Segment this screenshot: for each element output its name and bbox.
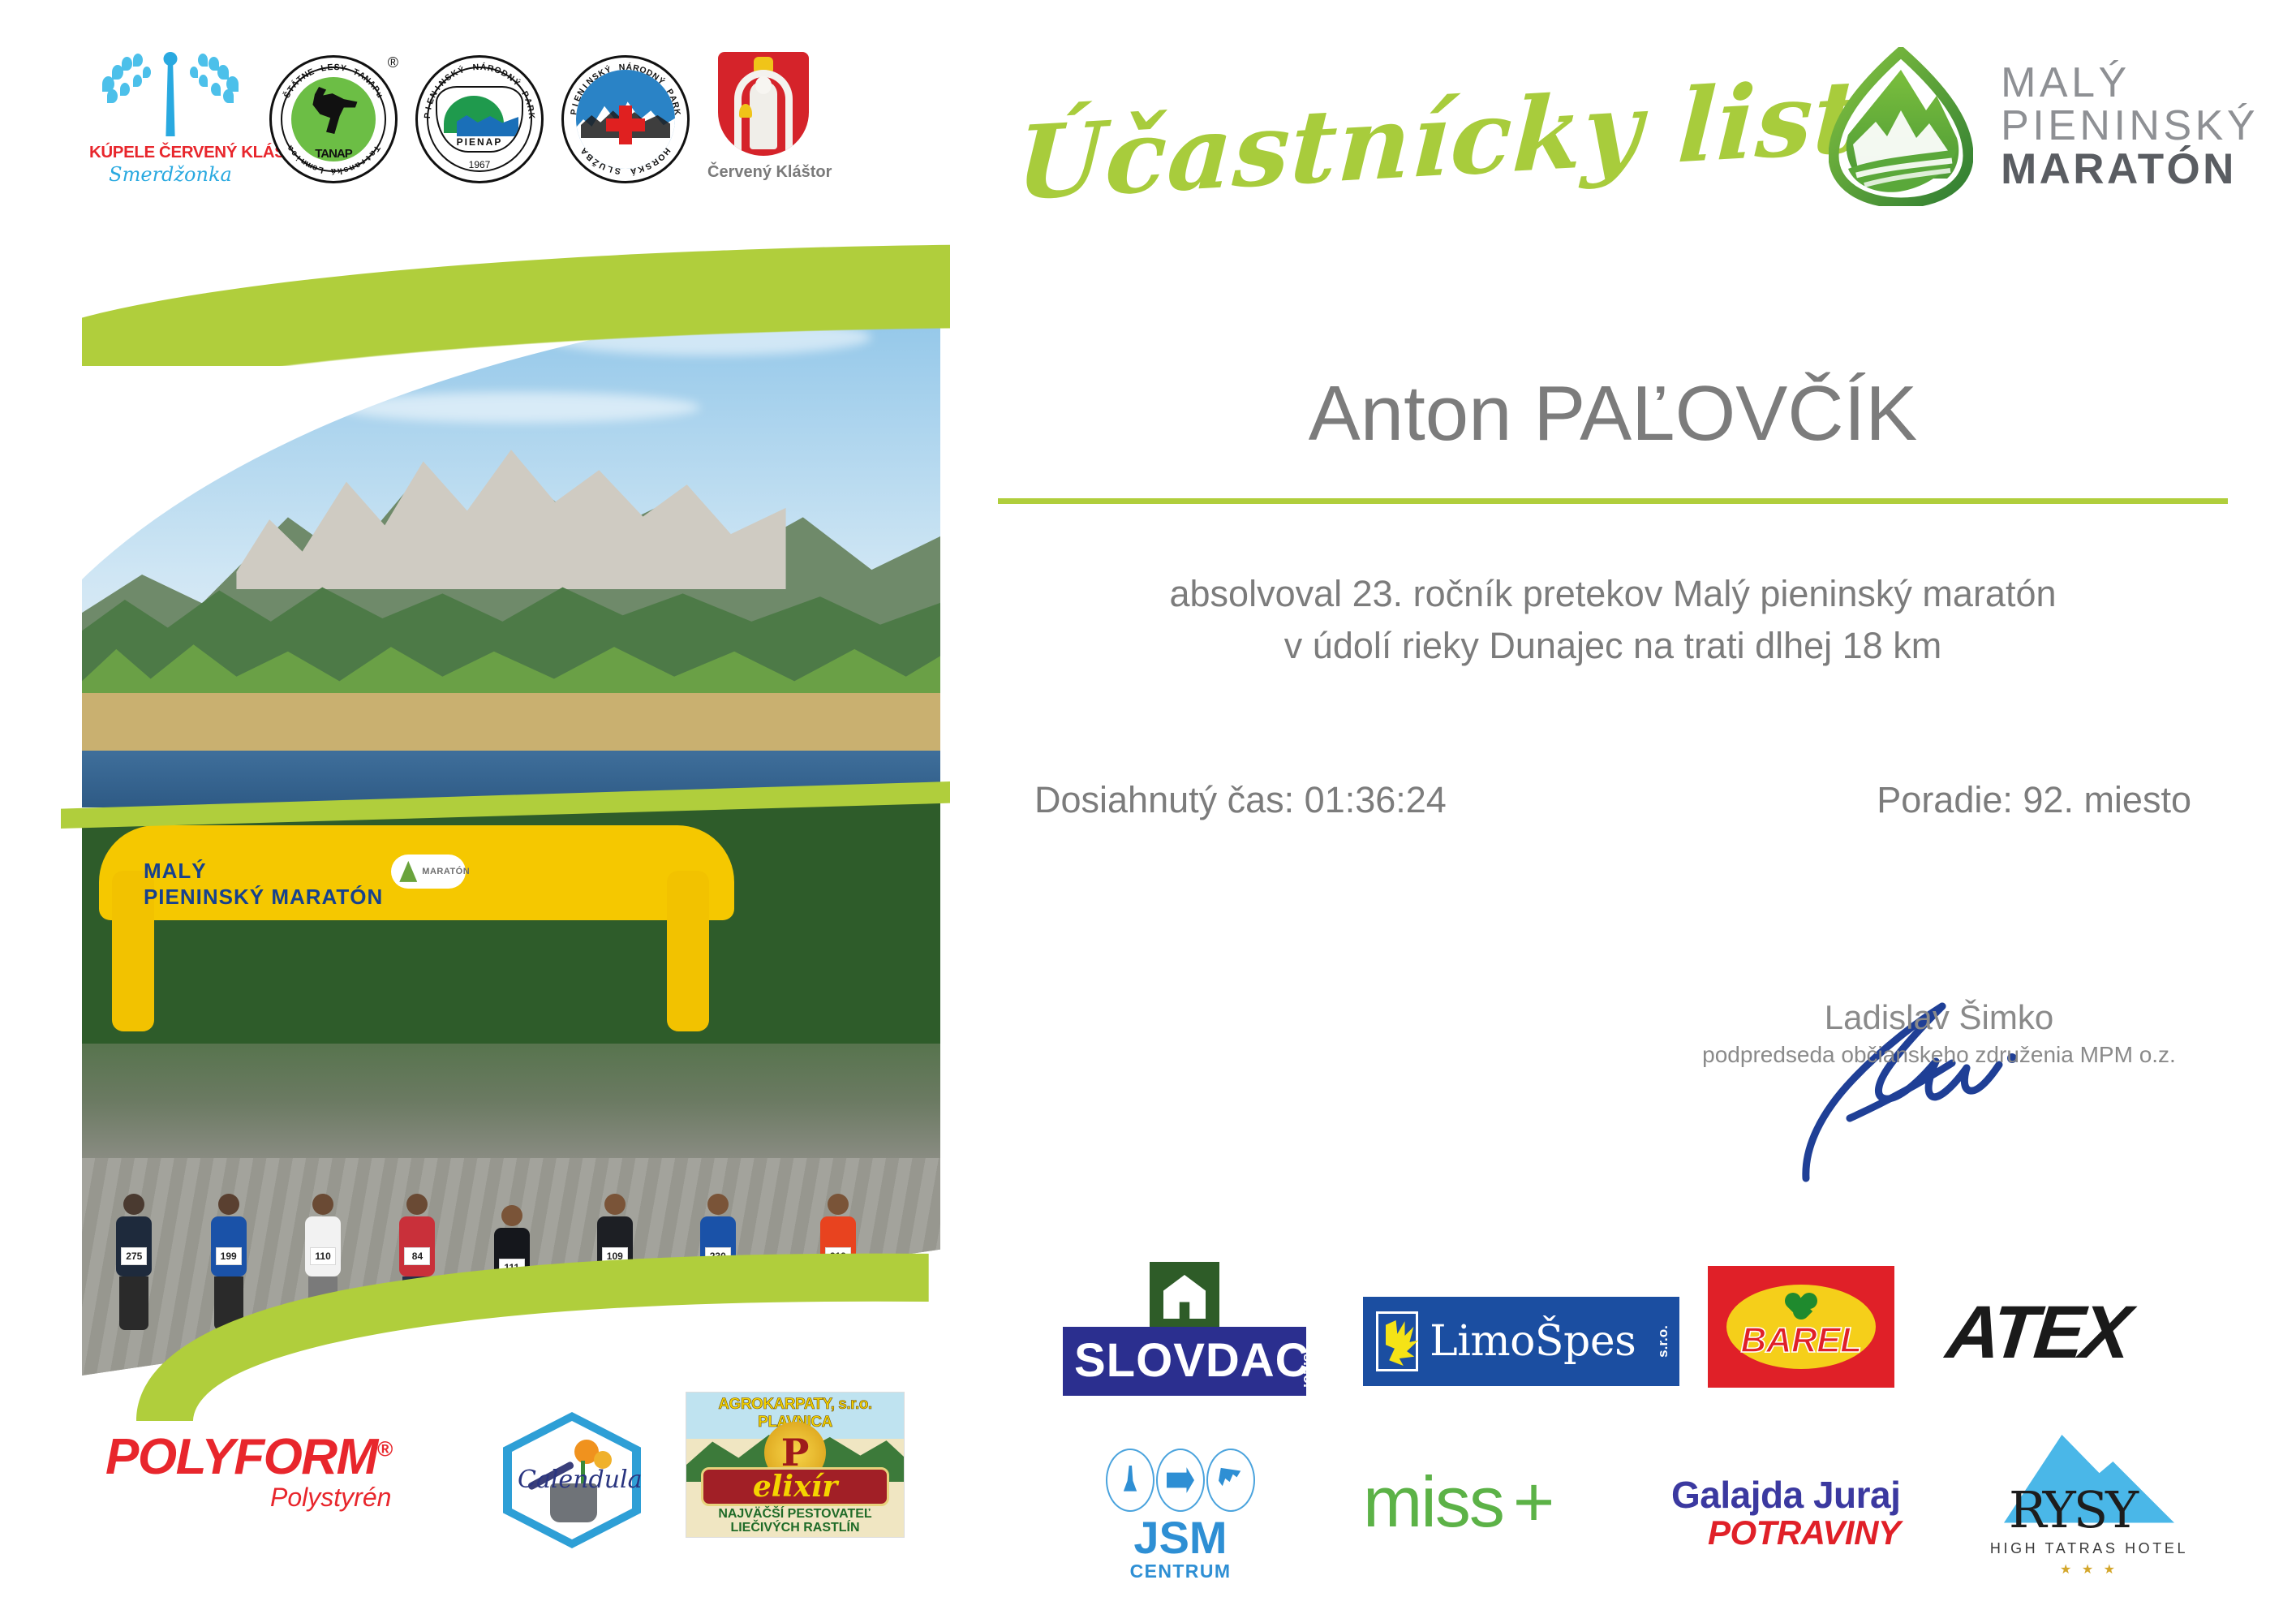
- barel-name: BAREL: [1740, 1320, 1861, 1361]
- arch-line-2: PIENINSKÝ MARATÓN: [144, 885, 383, 911]
- logo-statne-lesy-tanapu: ŠTÁTNE LESY TANAPu Tatranská Lomnica TAN…: [269, 55, 398, 183]
- finish-time: Dosiahnutý čas: 01:36:24: [1034, 779, 1447, 821]
- plus-icon: +: [1513, 1462, 1554, 1542]
- agrokarpaty-tagline: NAJVÄČŠÍ PESTOVATEĽ LIEČIVÝCH RASTLÍN: [686, 1508, 904, 1535]
- body-line-1: absolvoval 23. ročník pretekov Malý pien…: [998, 568, 2228, 620]
- paint-roller-icon: [1106, 1449, 1154, 1512]
- spa-angel-icon: [89, 41, 252, 144]
- coat-of-arms-label: Červený Kláštor: [707, 163, 819, 182]
- accent-divider: [998, 498, 2228, 504]
- body-line-2: v údolí rieky Dunajec na trati dlhej 18 …: [998, 620, 2228, 672]
- mountain-rescue-emblem: [576, 70, 675, 169]
- pienap-emblem: PIENAP: [436, 86, 523, 153]
- miss-name: miss: [1363, 1462, 1503, 1542]
- label-frame: AGROKARPATY, s.r.o. PLAVNICA P elixír NA…: [686, 1392, 905, 1538]
- galajda-name: Galajda Juraj: [1671, 1473, 1900, 1517]
- sponsor-jsm-centrum: JSM CENTRUM: [1071, 1449, 1290, 1582]
- mountain-landscape-photo: [82, 288, 940, 807]
- monk-head-icon: [755, 76, 772, 94]
- red-cross-icon: [606, 105, 645, 144]
- result-row: Dosiahnutý čas: 01:36:24 Poradie: 92. mi…: [998, 779, 2228, 821]
- recipient-name: Anton PAĽOVČÍK: [998, 369, 2228, 458]
- signature-block: Ladislav Šimko podpredseda občianskeho z…: [1655, 998, 2223, 1068]
- arch-banner-text: MALÝ PIENINSKÝ MARATÓN: [144, 859, 383, 910]
- sponsor-limospes: LimoŠpes s.r.o.: [1363, 1297, 1679, 1386]
- riverbank-grass-layer: [82, 693, 940, 756]
- brand-line-1: MALÝ: [2001, 62, 2259, 105]
- page-title: Účastnícky list: [1014, 58, 1864, 223]
- arch-leg-right: [667, 871, 709, 1031]
- leaf-mountain-icon: [1829, 47, 1973, 206]
- logo-kupele-name: KÚPELE ČERVENÝ KLÁŠTOR: [89, 143, 252, 162]
- limospes-mark-icon: [1376, 1311, 1418, 1371]
- limospes-suffix: s.r.o.: [1655, 1325, 1671, 1358]
- tagline-line-2: LIEČIVÝCH RASTLÍN: [686, 1522, 904, 1535]
- signatory-name: Ladislav Šimko: [1655, 998, 2223, 1037]
- pienap-label: PIENAP: [437, 136, 522, 148]
- sponsor-barel: BAREL: [1708, 1266, 1894, 1388]
- logo-kupele-cerveny-klastor: KÚPELE ČERVENÝ KLÁŠTOR Smerdžonka: [89, 41, 252, 186]
- elixir-wordmark: elixír: [703, 1470, 887, 1504]
- calendula-wordmark: Calendula: [518, 1466, 643, 1494]
- logo-pieninsky-narodny-park: PIENINSKÝ NÁRODNÝ PARK PIENAP 1967: [415, 55, 544, 183]
- sponsor-agrokarpaty-elixir: AGROKARPATY, s.r.o. PLAVNICA P elixír NA…: [686, 1392, 905, 1538]
- inflatable-start-arch: MARATÓN MALÝ PIENINSKÝ MARATÓN: [99, 825, 734, 1031]
- slovdach-suffix: s.r.o.: [1300, 1354, 1317, 1388]
- pienap-seal: PIENINSKÝ NÁRODNÝ PARK PIENAP 1967: [415, 55, 544, 183]
- signatory-role: podpredseda občianskeho združenia MPM o.…: [1655, 1042, 2223, 1068]
- registered-mark: ®: [377, 1436, 392, 1461]
- horska-sluzba-seal: PIENINSKÝ NÁRODNÝ PARK HORSKÁ SLUŽBA: [561, 55, 690, 183]
- tanap-seal: ŠTÁTNE LESY TANAPu Tatranská Lomnica TAN…: [269, 55, 398, 183]
- roof-house-icon: [1150, 1262, 1219, 1332]
- clover-icon: [1784, 1292, 1818, 1321]
- arch-logo-badge: MARATÓN: [391, 855, 466, 889]
- shower-head-icon: [1206, 1449, 1255, 1512]
- final-placement: Poradie: 92. miesto: [1877, 779, 2191, 821]
- hexagon-frame: Calendula: [503, 1412, 641, 1548]
- limospes-name: LimoŠpes: [1430, 1317, 1636, 1366]
- bell-icon: [739, 104, 752, 118]
- jsm-icon-row: [1071, 1449, 1290, 1512]
- leaf-mountain-icon: [399, 861, 417, 882]
- shield-shape: [718, 52, 809, 156]
- chamois-icon: [307, 87, 359, 134]
- photo-collage: MARATÓN MALÝ PIENINSKÝ MARATÓN 275 199 1…: [61, 239, 949, 1424]
- cloud-shape: [339, 392, 699, 423]
- screw-icon: [1156, 1449, 1205, 1512]
- sponsor-calendula: Calendula: [503, 1412, 641, 1548]
- polyform-name: POLYFORM: [105, 1429, 377, 1485]
- ribbon-banner: elixír: [701, 1467, 889, 1506]
- logo-kupele-subname: Smerdžonka: [89, 163, 252, 186]
- logo-horska-sluzba: PIENINSKÝ NÁRODNÝ PARK HORSKÁ SLUŽBA: [561, 55, 690, 183]
- sponsor-galajda-juraj: Galajda Juraj POTRAVINY: [1671, 1473, 1900, 1552]
- certificate-body: absolvoval 23. ročník pretekov Malý pien…: [998, 568, 2228, 672]
- arch-badge-label: MARATÓN: [422, 867, 470, 876]
- logo-cerveny-klastor-coat-of-arms: Červený Kláštor: [707, 52, 819, 182]
- pienap-year: 1967: [418, 159, 541, 170]
- green-swoosh-top: [82, 244, 950, 366]
- marathon-brand-logo: MALÝ PIENINSKÝ MARATÓN: [1829, 47, 2259, 206]
- sponsor-slovdach: SLOVDACH s.r.o.: [1063, 1262, 1306, 1396]
- rysy-sub: HIGH TATRAS HOTEL: [1988, 1540, 2191, 1557]
- tagline-line-1: NAJVÄČŠÍ PESTOVATEĽ: [686, 1508, 904, 1522]
- partner-logo-strip: KÚPELE ČERVENÝ KLÁŠTOR Smerdžonka ŠTÁTNE…: [89, 41, 933, 235]
- arch-line-1: MALÝ: [144, 859, 383, 885]
- slovdach-wordmark-bar: SLOVDACH s.r.o.: [1063, 1327, 1306, 1396]
- brand-wordmark: MALÝ PIENINSKÝ MARATÓN: [2001, 62, 2259, 192]
- jsm-sub: CENTRUM: [1071, 1561, 1290, 1582]
- certificate-page: KÚPELE ČERVENÝ KLÁŠTOR Smerdžonka ŠTÁTNE…: [0, 0, 2296, 1623]
- rysy-name: RYSY: [2009, 1480, 2136, 1539]
- polyform-tagline: Polystyrén: [105, 1483, 391, 1513]
- sponsor-miss-plus: miss+: [1363, 1461, 1554, 1543]
- tanap-green-disc: TANAP: [291, 77, 376, 161]
- tanap-monogram: TANAP: [315, 149, 352, 158]
- brand-line-3: MARATÓN: [2001, 148, 2259, 192]
- registered-mark: ®: [388, 54, 398, 71]
- sponsor-atex: ATEX: [1942, 1290, 2132, 1375]
- brand-line-2: PIENINSKÝ: [2001, 105, 2259, 148]
- sponsor-polyform: POLYFORM® Polystyrén: [105, 1428, 391, 1513]
- star-rating-icon: ★ ★ ★: [1988, 1561, 2191, 1578]
- jsm-name: JSM: [1071, 1515, 1290, 1561]
- barel-oval: BAREL: [1726, 1285, 1876, 1369]
- galajda-category: POTRAVINY: [1671, 1513, 1900, 1552]
- river-shape: [457, 115, 518, 136]
- polyform-wordmark: POLYFORM®: [105, 1428, 391, 1486]
- sponsor-rysy-hotel: RYSY HIGH TATRAS HOTEL ★ ★ ★: [1988, 1435, 2191, 1581]
